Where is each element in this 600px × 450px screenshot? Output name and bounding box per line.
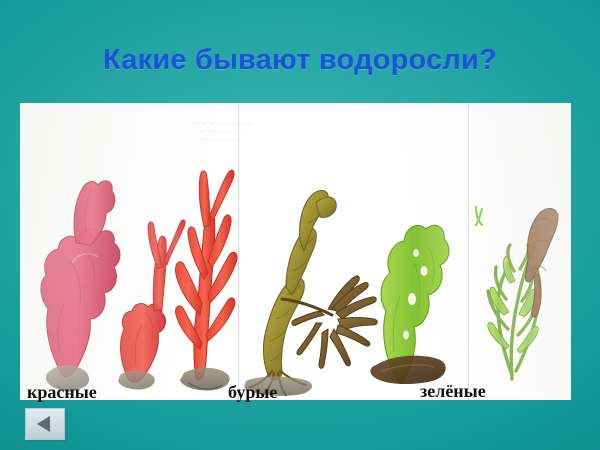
category-label-red: красные [27, 382, 97, 403]
presentation-slide: Какие бывают водоросли? — — — — — — — — … [0, 0, 600, 450]
panel-divider-right [468, 103, 469, 400]
category-label-green: зелёные [420, 381, 486, 402]
triangle-left-icon [37, 416, 50, 432]
panel-divider-left [238, 103, 239, 400]
algae-illustration-panel: — — — — — — — — — — — — — — — — — — — [20, 103, 571, 400]
back-button[interactable] [25, 408, 65, 440]
category-label-brown: бурые [228, 382, 277, 403]
algae-artwork [20, 103, 571, 400]
page-title: Какие бывают водоросли? [0, 44, 600, 77]
